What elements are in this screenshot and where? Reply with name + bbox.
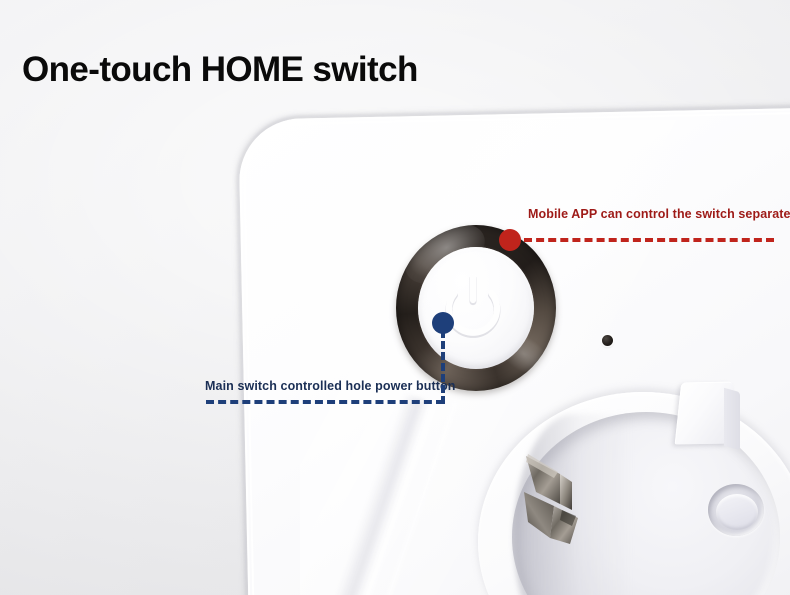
annotation-line-mobile-app (524, 238, 774, 242)
power-button-face[interactable] (418, 247, 534, 369)
product-annotation-image: Mobile APP can control the switch separa… (0, 0, 790, 595)
annotation-line-main-switch-horizontal (206, 400, 444, 404)
led-indicator (602, 335, 613, 346)
annotation-label-mobile-app: Mobile APP can control the switch separa… (528, 207, 790, 221)
page-title: One-touch HOME switch (22, 50, 418, 90)
socket-pin-hole-lip (716, 494, 758, 530)
annotation-dot-main-switch (432, 312, 454, 334)
socket-tab-side (724, 388, 740, 451)
annotation-dot-mobile-app (499, 229, 521, 251)
annotation-line-main-switch-vertical (441, 330, 445, 404)
annotation-label-main-switch: Main switch controlled hole power button (205, 379, 456, 393)
power-button[interactable] (396, 225, 556, 391)
